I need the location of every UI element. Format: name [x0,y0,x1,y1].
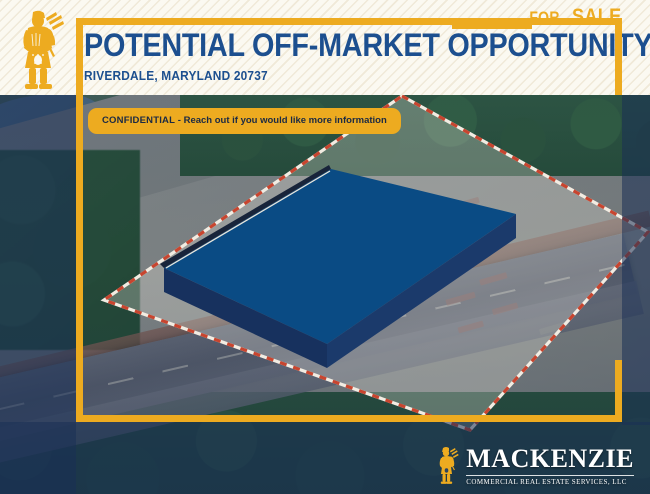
frame-bottom [76,415,622,422]
page-subtitle-location: RIVERDALE, MARYLAND 20737 [84,69,268,83]
page-title: POTENTIAL OFF-MARKET OPPORTUNITY [84,28,552,62]
confidential-emphasis: CONFIDENTIAL [102,115,175,126]
frame-right-lower [615,360,622,422]
flyer-header: FOR SALE POTENTIAL OFF-MARKET OPPORTUNIT… [0,0,650,95]
for-sale-flyer: FOR SALE POTENTIAL OFF-MARKET OPPORTUNIT… [0,0,650,494]
logo-wordmark-group: MACKENZIE COMMERCIAL REAL ESTATE SERVICE… [466,446,634,486]
confidential-message: Reach out if you would like more informa… [184,115,387,126]
bagpiper-logo-icon [6,8,68,94]
status-badge: FOR SALE [526,5,626,29]
confidential-separator: - [175,115,183,126]
logo-divider [466,475,634,476]
frame-top [76,18,622,25]
frame-left [76,18,83,422]
mackenzie-logo: MACKENZIE COMMERCIAL REAL ESTATE SERVICE… [433,446,634,486]
brand-name: MACKENZIE [466,446,634,472]
confidential-banner: CONFIDENTIAL - Reach out if you would li… [88,108,401,134]
frame-right-upper [615,18,622,95]
brand-tagline: COMMERCIAL REAL ESTATE SERVICES, LLC [466,479,634,486]
bagpiper-logo-icon [433,446,459,486]
